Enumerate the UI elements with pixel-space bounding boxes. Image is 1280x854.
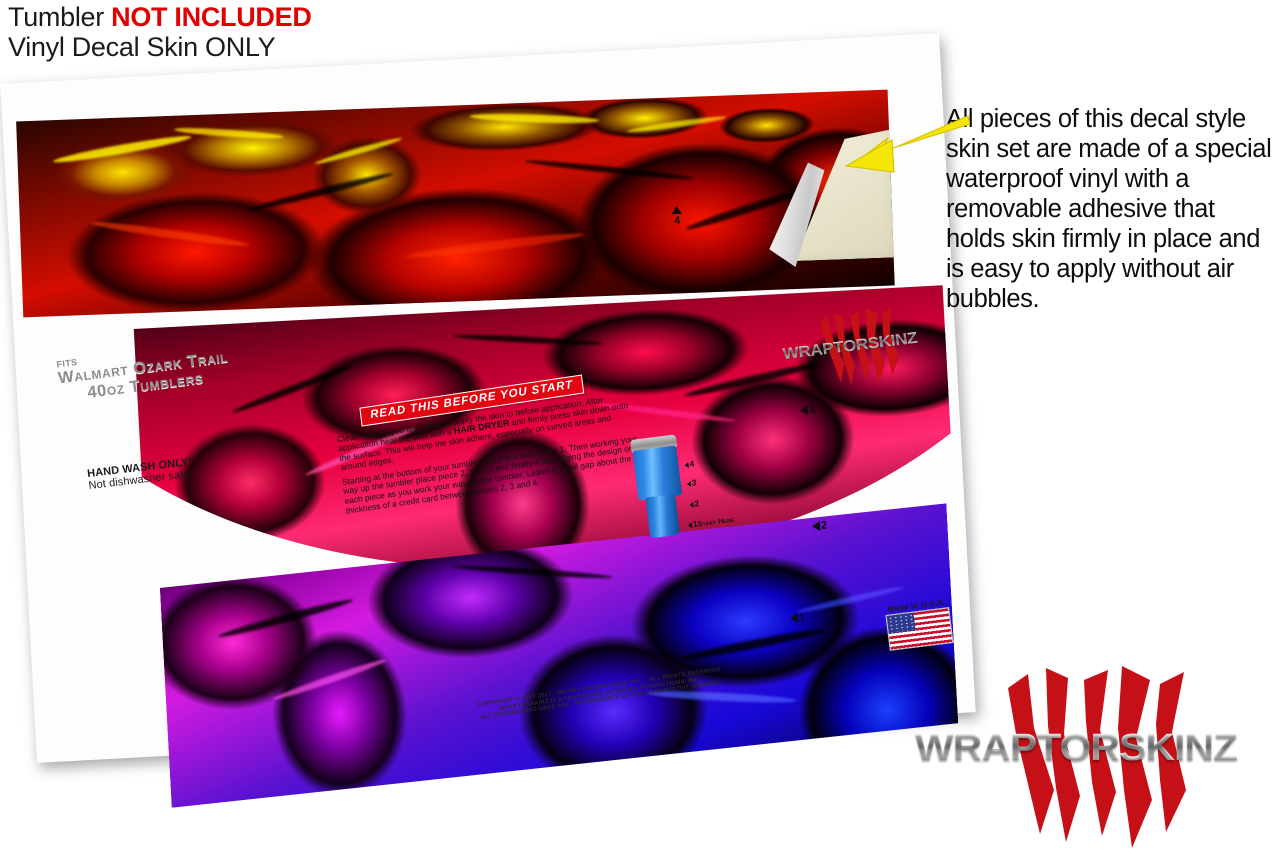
piece-marker-4-number: 4 xyxy=(674,215,681,227)
flag-canton xyxy=(887,613,916,634)
piece-marker-4: 4 xyxy=(671,206,682,227)
header-line-2: Vinyl Decal Skin ONLY xyxy=(8,32,478,62)
tumbler-upper-body xyxy=(632,445,682,500)
made-in-usa-badge: Made in U.S.A. xyxy=(884,597,953,651)
tumbler-label-3: 3 xyxy=(686,477,697,488)
header-line-1: Tumbler NOT INCLUDED xyxy=(8,2,478,32)
annotation-text: All pieces of this decal style skin set … xyxy=(946,104,1276,314)
triangle-left-icon xyxy=(687,481,692,487)
header-notice: Tumbler NOT INCLUDED Vinyl Decal Skin ON… xyxy=(8,2,478,62)
piece-marker-1-number: 1 xyxy=(799,612,806,624)
triangle-left-icon xyxy=(790,613,799,623)
tumbler-lower-body xyxy=(645,494,680,538)
triangle-left-icon xyxy=(812,521,821,531)
flag-stars xyxy=(888,614,915,633)
triangle-left-icon xyxy=(688,522,693,528)
piece-marker-1: 1 xyxy=(790,612,806,625)
triangle-left-icon xyxy=(684,462,689,468)
wraptorskinz-wordmark: WRAPTORSKINZ xyxy=(876,726,1276,769)
piece-marker-2: 2 xyxy=(812,520,828,533)
header-not-included: NOT INCLUDED xyxy=(111,2,311,32)
triangle-left-icon xyxy=(800,405,809,415)
wraptorskinz-logo: WRAPTORSKINZ xyxy=(862,662,1280,852)
triangle-up-icon xyxy=(671,206,681,215)
triangle-left-icon xyxy=(689,502,694,508)
tumbler-label-4: 4 xyxy=(684,458,695,469)
header-line-1-prefix: Tumbler xyxy=(8,2,111,32)
piece-marker-3-number: 3 xyxy=(809,404,816,416)
skin-piece-4 xyxy=(16,90,895,318)
piece-marker-2-number: 2 xyxy=(821,520,828,532)
piece-marker-3: 3 xyxy=(800,404,816,417)
tumbler-label-2: 2 xyxy=(689,498,700,509)
skin-piece-2-and-1 xyxy=(158,503,961,807)
arrow-left-icon xyxy=(820,110,970,180)
wraptorskinz-logo-large: WRAPTORSKINZ xyxy=(862,662,1280,852)
